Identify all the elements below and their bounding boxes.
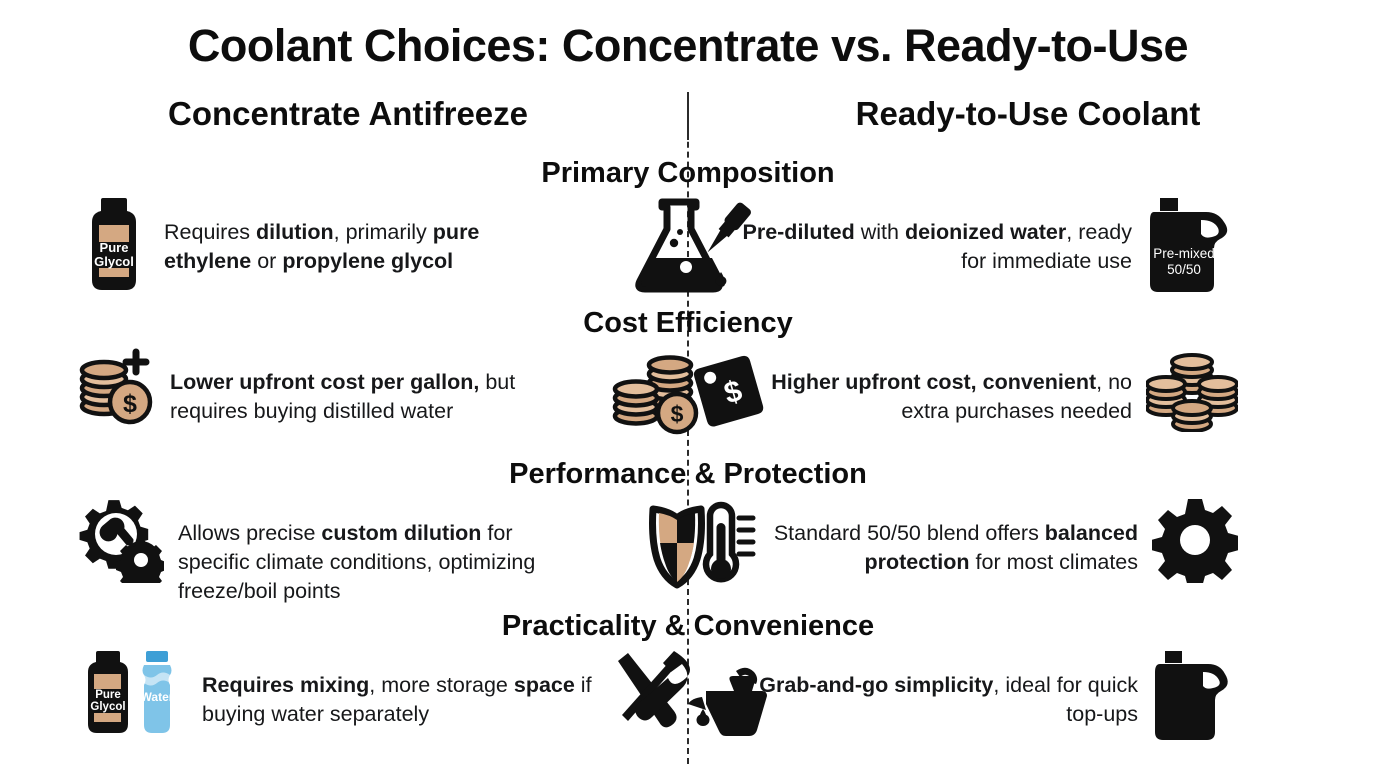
dollar-sign-label: $: [123, 390, 137, 418]
section-left-description: Requires dilution, primarily pure ethyle…: [164, 196, 556, 275]
section-right-content: Higher upfront cost, convenient, no extr…: [698, 346, 1238, 432]
infographic-canvas: Coolant Choices: Concentrate vs. Ready-t…: [0, 0, 1376, 768]
column-heading-left: Concentrate Antifreeze: [68, 95, 628, 133]
section-left-content: Pure Glycol Water Requires mixing, more …: [78, 649, 618, 741]
premixed-jug-label-line1: Pre-mixed: [1153, 246, 1215, 261]
desc-part-bold: Pre-diluted: [742, 220, 854, 244]
coin-stacks-icon: [1146, 346, 1238, 432]
section-cost-efficiency: Cost Efficiency $: [0, 308, 1376, 432]
desc-part-bold: propylene glycol: [282, 249, 453, 273]
glycol-bottle-label-line2: Glycol: [90, 701, 125, 713]
desc-part: Allows precise: [178, 521, 321, 545]
desc-part-bold: space: [514, 673, 575, 697]
section-title: Performance & Protection: [0, 459, 1376, 489]
desc-part-bold: deionized water: [905, 220, 1066, 244]
desc-part: with: [855, 220, 905, 244]
desc-part: , ideal for quick top-ups: [993, 673, 1138, 726]
desc-part-bold: custom dilution: [321, 521, 481, 545]
section-title: Practicality & Convenience: [0, 611, 1376, 641]
desc-part: , primarily: [334, 220, 433, 244]
black-jug-icon: [1152, 649, 1238, 741]
glycol-and-water-bottles-icon: Pure Glycol Water: [78, 649, 188, 741]
desc-part: or: [251, 249, 282, 273]
section-right-description: Standard 50/50 blend offers balanced pro…: [746, 497, 1138, 576]
premixed-jug-icon: Pre-mixed 50/50: [1146, 196, 1238, 294]
premixed-jug-label-line2: 50/50: [1167, 262, 1201, 277]
desc-part-bold: Lower upfront cost per gallon,: [170, 370, 479, 394]
desc-part: for most climates: [970, 550, 1138, 574]
desc-part-bold: dilution: [256, 220, 334, 244]
desc-part-bold: Requires mixing: [202, 673, 369, 697]
desc-part-bold: Grab-and-go simplicity: [759, 673, 993, 697]
gear-wrench-icon: [78, 497, 164, 583]
page-title: Coolant Choices: Concentrate vs. Ready-t…: [0, 20, 1376, 72]
section-right-content: Standard 50/50 blend offers balanced pro…: [698, 497, 1238, 583]
section-primary-composition: Primary Composition Pure Glycol Requires…: [0, 158, 1376, 294]
column-heading-right: Ready-to-Use Coolant: [748, 95, 1308, 133]
glycol-bottle-label-line2: Glycol: [94, 254, 134, 269]
section-left-content: $ Lower upfront cost per gallon, but req…: [78, 346, 618, 432]
section-right-description: Grab-and-go simplicity, ideal for quick …: [746, 649, 1138, 728]
desc-part-bold: Higher upfront cost, convenient: [771, 370, 1096, 394]
section-left-content: Pure Glycol Requires dilution, primarily…: [78, 196, 618, 294]
coins-plus-icon: $: [78, 346, 156, 432]
section-practicality-convenience: Practicality & Convenience Pure Glycol W: [0, 611, 1376, 741]
section-left-description: Requires mixing, more storage space if b…: [202, 649, 594, 728]
glycol-bottle-label-line1: Pure: [100, 240, 129, 255]
desc-part: Standard 50/50 blend offers: [774, 521, 1045, 545]
glycol-bottle-label-line1: Pure: [95, 689, 121, 701]
section-left-description: Lower upfront cost per gallon, but requi…: [170, 346, 562, 425]
water-bottle-label: Water: [141, 690, 174, 704]
section-right-content: Pre-diluted with deionized water, ready …: [698, 196, 1238, 294]
gear-icon: [1152, 497, 1238, 583]
dollar-sign-label: $: [671, 401, 684, 427]
section-right-description: Higher upfront cost, convenient, no extr…: [740, 346, 1132, 425]
section-title: Cost Efficiency: [0, 308, 1376, 338]
desc-part: Requires: [164, 220, 256, 244]
section-right-description: Pre-diluted with deionized water, ready …: [740, 196, 1132, 275]
section-left-description: Allows precise custom dilution for speci…: [178, 497, 570, 605]
section-performance-protection: Performance & Protection: [0, 459, 1376, 605]
desc-part: , more storage: [369, 673, 514, 697]
section-left-content: Allows precise custom dilution for speci…: [78, 497, 618, 605]
section-title: Primary Composition: [0, 158, 1376, 188]
glycol-bottle-icon: Pure Glycol: [78, 196, 150, 294]
section-right-content: Grab-and-go simplicity, ideal for quick …: [698, 649, 1238, 741]
